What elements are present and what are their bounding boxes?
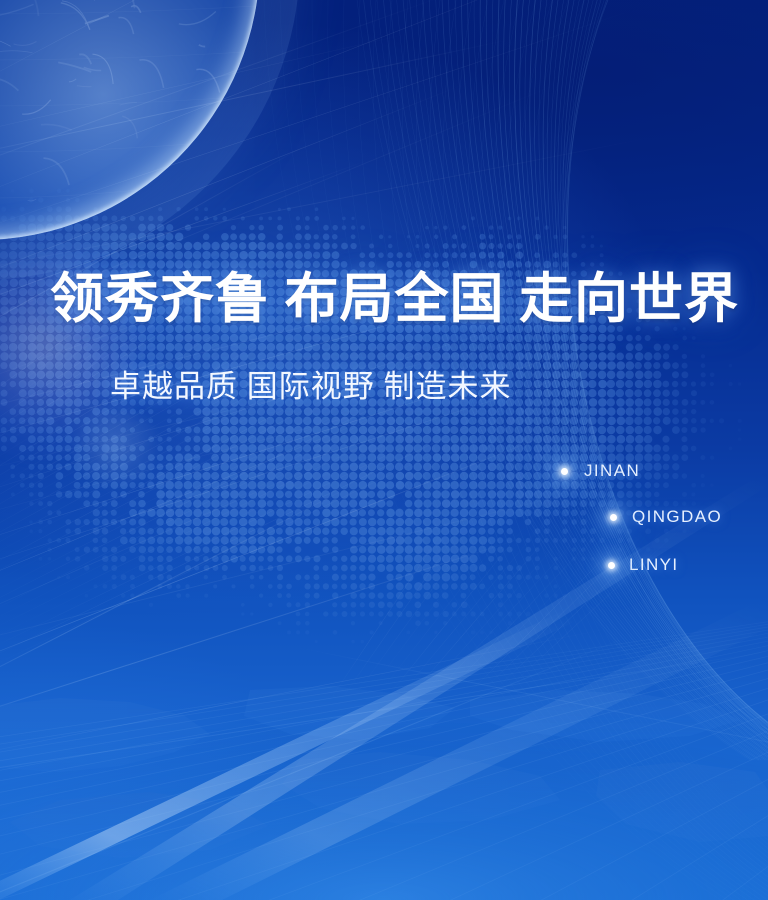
city-dot-marker-icon xyxy=(610,514,617,521)
city-marker-qingdao[interactable]: QINGDAO xyxy=(610,507,722,527)
vector-decoration-overlay xyxy=(0,0,768,900)
city-dot-marker-icon xyxy=(561,468,568,475)
city-dot-marker-icon xyxy=(608,562,615,569)
city-label: QINGDAO xyxy=(632,507,722,527)
city-marker-linyi[interactable]: LINYI xyxy=(608,555,679,575)
page-subtitle: 卓越品质 国际视野 制造未来 xyxy=(110,368,512,406)
city-label: JINAN xyxy=(584,461,640,481)
promo-banner: 领秀齐鲁 布局全国 走向世界 卓越品质 国际视野 制造未来 JINAN QING… xyxy=(0,0,768,900)
city-label: LINYI xyxy=(629,555,679,575)
page-title: 领秀齐鲁 布局全国 走向世界 xyxy=(50,268,739,330)
city-marker-jinan[interactable]: JINAN xyxy=(561,461,640,481)
